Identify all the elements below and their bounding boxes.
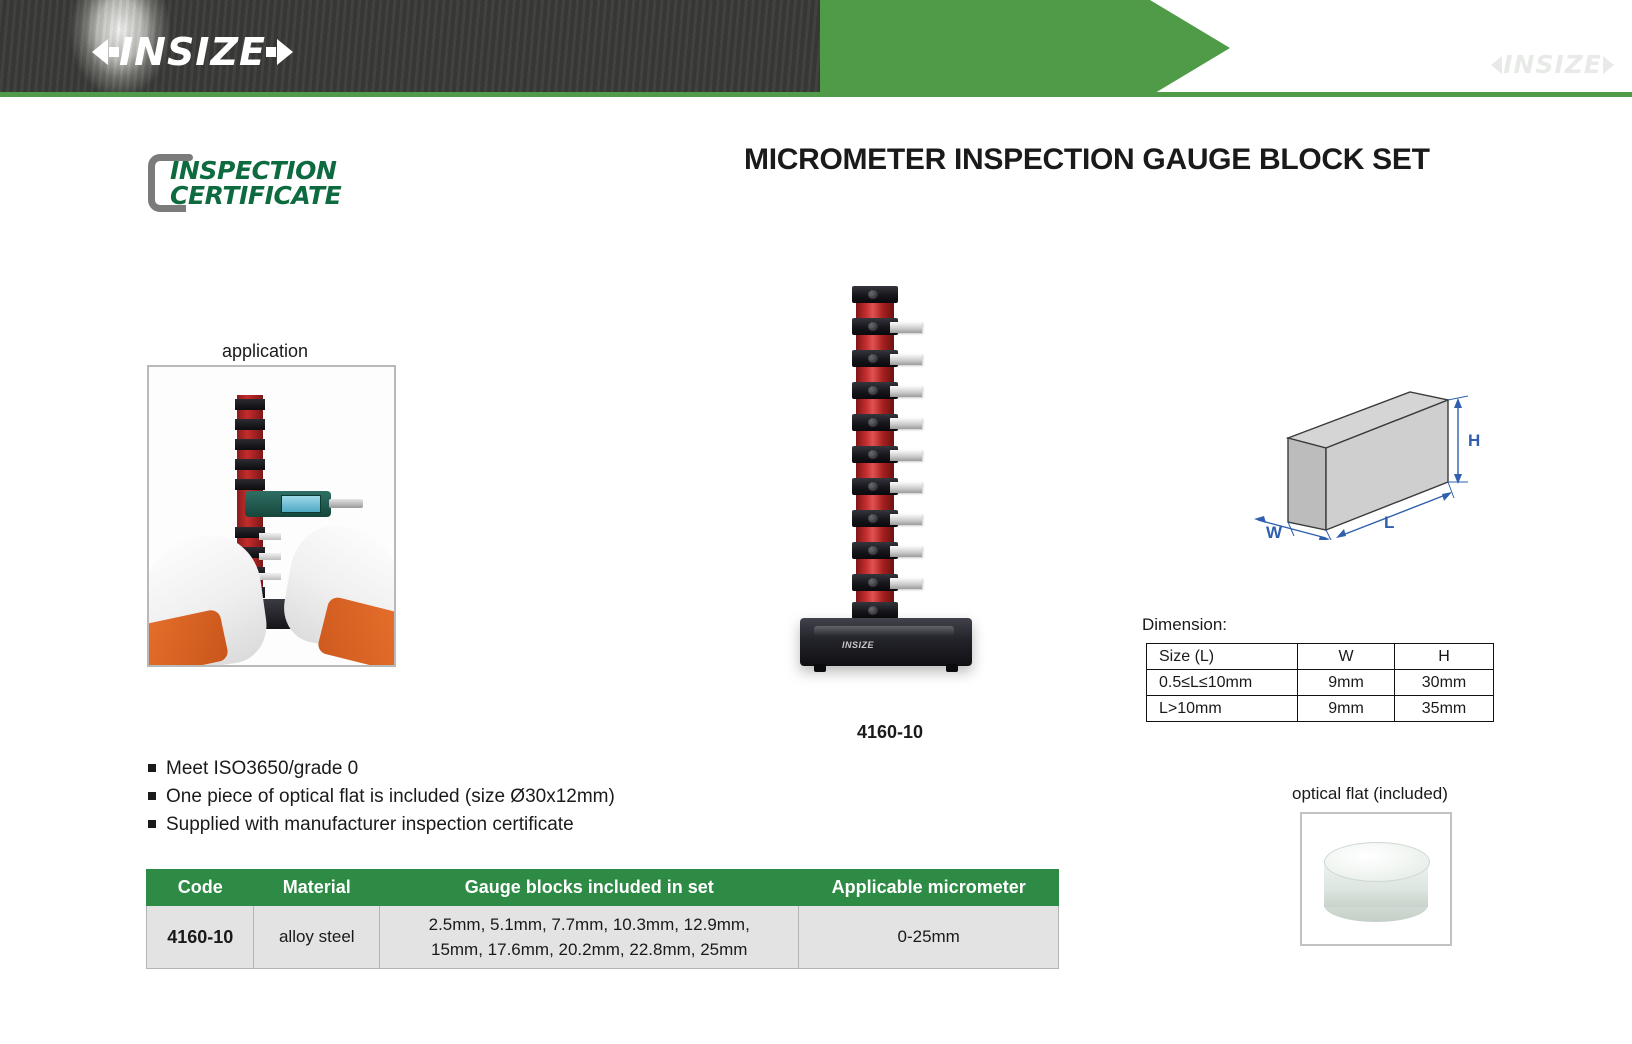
- dimension-label: Dimension:: [1142, 615, 1227, 635]
- page-header: INSIZE INSIZE: [0, 0, 1632, 96]
- product-block-tab: [890, 546, 922, 557]
- w-label: W: [1266, 523, 1283, 540]
- product-block-tab: [890, 386, 922, 397]
- header-green-arrow-shape-secondary: [1058, 0, 1258, 96]
- dimension-row: 0.5≤L≤10mm 9mm 30mm: [1147, 670, 1494, 696]
- dimension-table: Size (L) W H 0.5≤L≤10mm 9mm 30mm L>10mm …: [1146, 643, 1494, 722]
- dimension-cell-w: 9mm: [1298, 670, 1395, 696]
- product-block-tab: [890, 514, 922, 525]
- dimension-cell-size: 0.5≤L≤10mm: [1147, 670, 1298, 696]
- table-row: 4160-10 alloy steel 2.5mm, 5.1mm, 7.7mm,…: [147, 906, 1059, 969]
- cell-micrometer: 0-25mm: [799, 906, 1059, 969]
- application-block-tab: [259, 553, 281, 560]
- feature-text: One piece of optical flat is included (s…: [166, 786, 615, 808]
- feature-text: Supplied with manufacturer inspection ce…: [166, 814, 574, 836]
- product-gauge-block: [852, 286, 898, 303]
- bullet-square-icon: [148, 820, 156, 828]
- product-code-caption: 4160-10: [810, 722, 970, 743]
- application-gauge-block: [235, 419, 265, 430]
- feature-text: Meet ISO3650/grade 0: [166, 758, 358, 780]
- insize-logo: INSIZE: [92, 30, 293, 74]
- cell-material: alloy steel: [254, 906, 380, 969]
- dimension-header-w: W: [1298, 644, 1395, 670]
- certificate-line-2: CERTIFICATE: [170, 183, 341, 208]
- bullet-square-icon: [148, 792, 156, 800]
- dimension-cell-h: 35mm: [1395, 696, 1494, 722]
- w-arrow-left-icon: [1254, 516, 1266, 523]
- certificate-line-1: INSPECTION: [170, 158, 341, 183]
- blocks-line-1: 2.5mm, 5.1mm, 7.7mm, 10.3mm, 12.9mm,: [384, 912, 794, 937]
- h-label: H: [1468, 431, 1480, 450]
- micrometer-display: [281, 495, 321, 513]
- feature-list: Meet ISO3650/grade 0 One piece of optica…: [148, 758, 615, 842]
- optical-flat-photo: [1300, 812, 1452, 946]
- product-block-tab: [890, 578, 922, 589]
- dimension-header-size: Size (L): [1147, 644, 1298, 670]
- product-block-tab: [890, 418, 922, 429]
- logo-right-bar-icon: [266, 47, 276, 57]
- dimension-header-row: Size (L) W H: [1147, 644, 1494, 670]
- product-base-logo: INSIZE: [842, 640, 874, 650]
- l-extension-right: [1448, 482, 1454, 498]
- stand-foot: [946, 664, 958, 672]
- column-header-code: Code: [147, 870, 254, 906]
- product-photo: INSIZE: [790, 280, 990, 700]
- column-header-micrometer: Applicable micrometer: [799, 870, 1059, 906]
- product-block-tab: [890, 354, 922, 365]
- logo-right-arrow-icon: [277, 39, 293, 65]
- list-item: One piece of optical flat is included (s…: [148, 786, 615, 808]
- cell-blocks: 2.5mm, 5.1mm, 7.7mm, 10.3mm, 12.9mm, 15m…: [380, 906, 799, 969]
- product-block-tab: [890, 450, 922, 461]
- list-item: Meet ISO3650/grade 0: [148, 758, 615, 780]
- insize-logo-watermark: INSIZE: [1491, 52, 1614, 77]
- gauge-block-dimension-diagram: H L W: [1180, 370, 1480, 540]
- blocks-line-2: 15mm, 17.6mm, 20.2mm, 22.8mm, 25mm: [384, 937, 794, 962]
- header-green-rule: [0, 92, 1632, 97]
- table-header-row: Code Material Gauge blocks included in s…: [147, 870, 1059, 906]
- l-label: L: [1384, 513, 1394, 532]
- cell-code: 4160-10: [147, 906, 254, 969]
- h-arrow-top-icon: [1454, 398, 1462, 408]
- bullet-square-icon: [148, 764, 156, 772]
- product-table: Code Material Gauge blocks included in s…: [146, 869, 1059, 969]
- micrometer-spindle: [329, 499, 363, 508]
- product-gauge-block: [852, 602, 898, 619]
- column-header-blocks: Gauge blocks included in set: [380, 870, 799, 906]
- application-caption: application: [222, 341, 308, 362]
- stand-foot: [814, 664, 826, 672]
- application-photo: INSIZE: [147, 365, 396, 667]
- inspection-certificate-badge: INSPECTION CERTIFICATE: [148, 152, 408, 214]
- watermark-right-arrow-icon: [1603, 56, 1614, 74]
- block-left-face: [1288, 438, 1326, 530]
- application-gauge-block: [235, 459, 265, 470]
- l-arrow-right-icon: [1442, 492, 1452, 501]
- optical-flat-top: [1324, 842, 1430, 882]
- column-header-material: Material: [254, 870, 380, 906]
- logo-wordmark: INSIZE: [119, 33, 266, 71]
- product-block-tab: [890, 322, 922, 333]
- product-stand-base: [800, 618, 972, 666]
- list-item: Supplied with manufacturer inspection ce…: [148, 814, 615, 836]
- l-arrow-left-icon: [1336, 529, 1346, 538]
- dimension-cell-w: 9mm: [1298, 696, 1395, 722]
- logo-left-arrow-icon: [92, 39, 108, 65]
- application-gauge-block: [235, 399, 265, 410]
- dimension-header-h: H: [1395, 644, 1494, 670]
- logo-left-bar-icon: [109, 47, 119, 57]
- optical-flat-caption: optical flat (included): [1292, 784, 1448, 804]
- certificate-text: INSPECTION CERTIFICATE: [170, 158, 341, 208]
- application-micrometer: [245, 485, 363, 521]
- product-block-tab: [890, 482, 922, 493]
- dimension-cell-size: L>10mm: [1147, 696, 1298, 722]
- optical-flat-disc: [1324, 842, 1428, 916]
- application-block-tab: [259, 533, 281, 540]
- application-gauge-block: [235, 439, 265, 450]
- page-title: MICROMETER INSPECTION GAUGE BLOCK SET: [744, 143, 1430, 177]
- watermark-wordmark: INSIZE: [1503, 52, 1602, 77]
- dimension-row: L>10mm 9mm 35mm: [1147, 696, 1494, 722]
- dimension-cell-h: 30mm: [1395, 670, 1494, 696]
- application-block-tab: [259, 573, 281, 580]
- watermark-left-arrow-icon: [1491, 56, 1502, 74]
